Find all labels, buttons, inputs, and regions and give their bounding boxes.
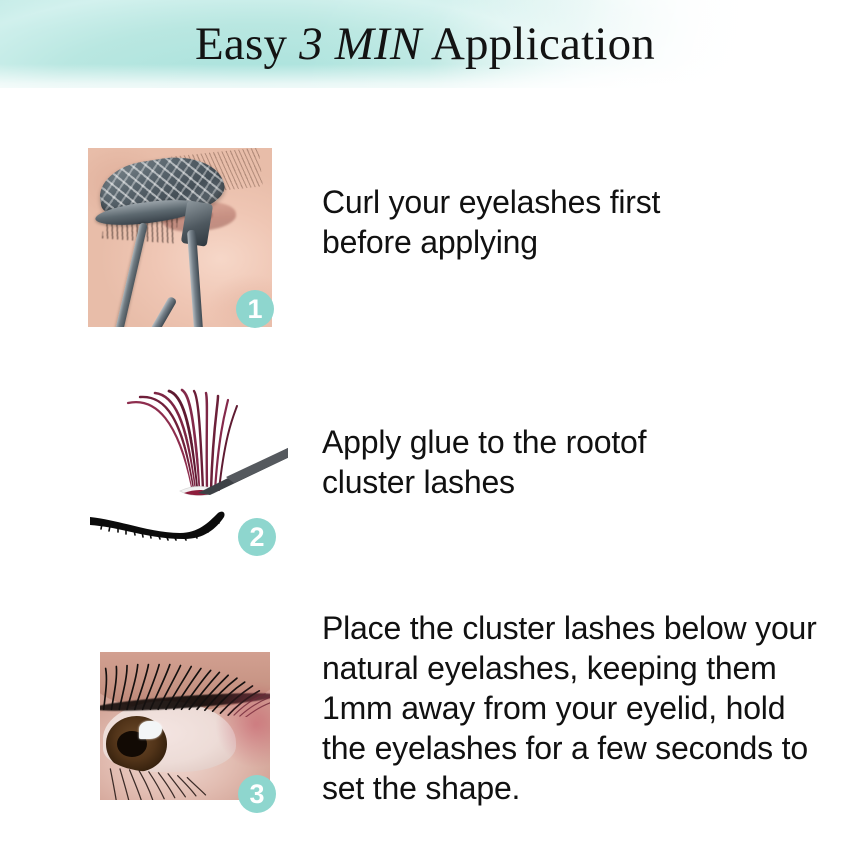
- header-banner: Easy 3 MIN Application: [0, 0, 850, 110]
- page-title-emphasis: 3 MIN: [299, 18, 421, 70]
- step-2-number-badge: 2: [238, 518, 276, 556]
- step-3-text: Place the cluster lashes below your natu…: [322, 608, 850, 808]
- page-title-part-2: Application: [422, 18, 655, 70]
- step-2-text: Apply glue to the rootof cluster lashes: [322, 422, 742, 502]
- pink-color-cast: [216, 682, 270, 768]
- page-title: Easy 3 MIN Application: [0, 14, 850, 74]
- step-1-text: Curl your eyelashes first before applyin…: [322, 182, 742, 262]
- lower-lash-line: [103, 767, 225, 800]
- page-title-part-1: Easy: [195, 18, 299, 70]
- applied-lashes-eye-photo: [100, 652, 270, 800]
- tweezers-tip: [194, 443, 288, 505]
- step-1-number-badge: 1: [236, 290, 274, 328]
- lash-band-stroke: [88, 505, 238, 541]
- step-3-number-badge: 3: [238, 775, 276, 813]
